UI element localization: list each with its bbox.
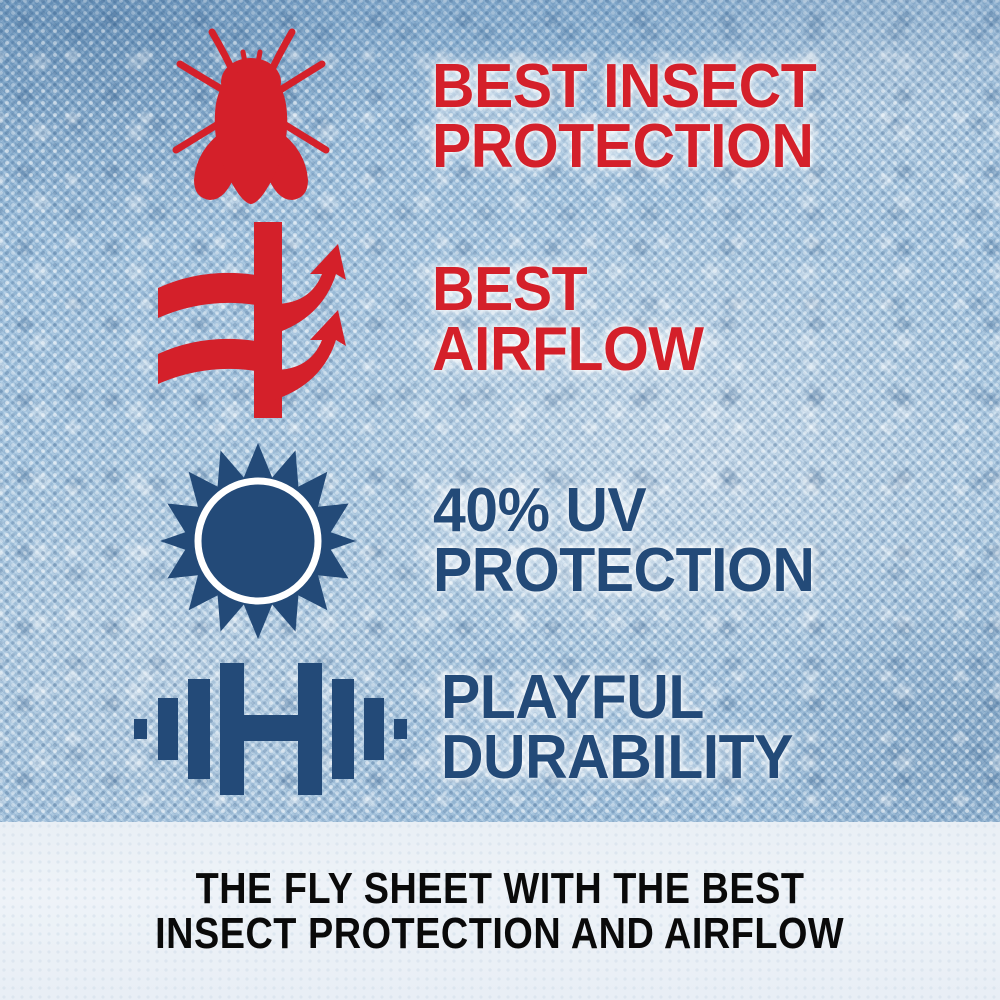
feature-row-durability: PLAYFUL DURABILITY xyxy=(128,648,988,808)
feature-label-line-1: 40% UV xyxy=(433,481,814,541)
airflow-icon-container xyxy=(150,222,350,418)
caption-line-2: INSECT PROTECTION AND AIRFLOW xyxy=(155,911,844,956)
dumbbell-icon-container xyxy=(128,653,413,803)
feature-label-uv-protection: 40% UV PROTECTION xyxy=(433,481,814,601)
sun-icon-container xyxy=(150,438,365,644)
feature-row-airflow: BEST AIRFLOW xyxy=(150,222,980,418)
feature-label-line-1: BEST xyxy=(432,260,703,320)
airflow-arrows-icon xyxy=(150,222,350,418)
feature-label-line-2: DURABILITY xyxy=(441,728,793,788)
feature-label-line-2: PROTECTION xyxy=(432,117,816,177)
feature-label-line-1: PLAYFUL xyxy=(441,668,793,728)
fly-icon-container xyxy=(150,22,350,212)
dumbbell-icon xyxy=(128,653,413,803)
fly-icon xyxy=(150,22,350,212)
product-feature-infographic: BEST INSECT PROTECTION xyxy=(0,0,1000,1000)
sun-uv-icon xyxy=(158,441,358,641)
caption-panel: THE FLY SHEET WITH THE BEST INSECT PROTE… xyxy=(0,822,1000,1000)
caption-line-1: THE FLY SHEET WITH THE BEST xyxy=(196,866,805,911)
feature-label-line-1: BEST INSECT xyxy=(432,57,816,117)
feature-label-line-2: AIRFLOW xyxy=(432,320,703,380)
feature-row-insect-protection: BEST INSECT PROTECTION xyxy=(150,22,980,212)
feature-label-durability: PLAYFUL DURABILITY xyxy=(441,668,793,788)
feature-label-airflow: BEST AIRFLOW xyxy=(432,260,703,380)
feature-row-uv-protection: 40% UV PROTECTION xyxy=(150,438,980,644)
feature-label-insect-protection: BEST INSECT PROTECTION xyxy=(432,57,816,177)
feature-label-line-2: PROTECTION xyxy=(433,541,814,601)
